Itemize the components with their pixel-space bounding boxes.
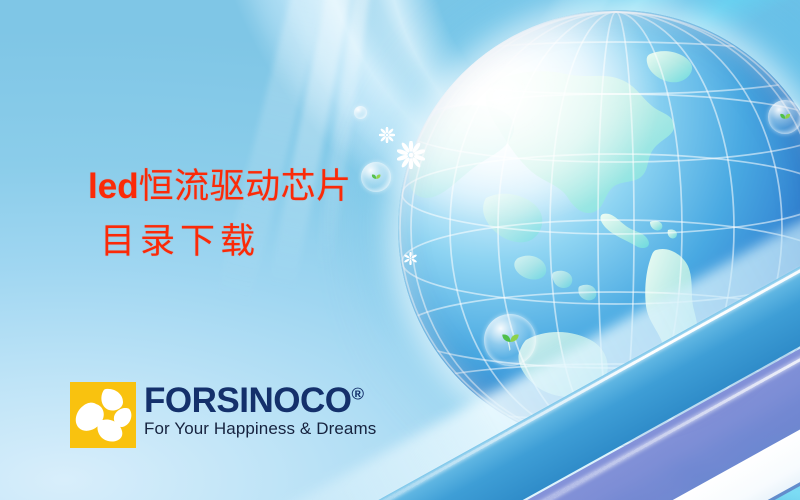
banner-image: led恒流驱动芯片 目录下载 FORSINOCO® For Your Happ: [0, 0, 800, 500]
logo-wordmark: FORSINOCO® For Your Happiness & Dreams: [144, 382, 376, 439]
bubble-with-leaf-icon: [768, 100, 800, 134]
logo-tagline: For Your Happiness & Dreams: [144, 419, 376, 439]
registered-mark: ®: [351, 384, 364, 403]
bubble-small-icon: [354, 106, 367, 119]
headline-ascii: led: [88, 167, 139, 206]
bubble-with-leaf-icon: [484, 314, 536, 366]
leaf-icon: [498, 331, 523, 353]
headline-cjk: 恒流驱动芯片: [139, 167, 352, 206]
leaf-icon: [777, 111, 793, 125]
daisy-flower-icon: [379, 127, 395, 143]
brand-name: FORSINOCO®: [144, 384, 376, 418]
four-petal-flower-icon: [70, 382, 136, 448]
brand-text: FORSINOCO: [144, 381, 351, 420]
daisy-flower-icon: [397, 141, 425, 169]
headline-line-2: 目录下载: [100, 221, 508, 264]
headline-text: led恒流驱动芯片 目录下载: [88, 166, 508, 263]
headline-line-1: led恒流驱动芯片: [88, 166, 508, 209]
company-logo: FORSINOCO® For Your Happiness & Dreams: [70, 382, 376, 448]
